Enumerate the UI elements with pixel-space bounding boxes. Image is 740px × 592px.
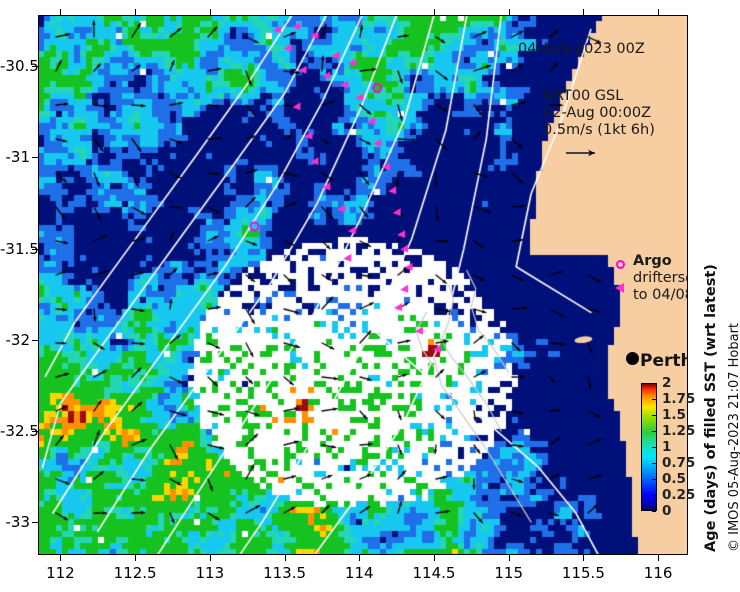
colorbar-tick-label: 1.25 <box>662 423 695 439</box>
x-tick-label: 115.5 <box>562 564 605 582</box>
x-tick <box>434 555 435 561</box>
map-plot-area[interactable]: 04-Aug-2023 00Z 200m 1000m NRT00 GSL 02-… <box>38 15 688 555</box>
colorbar-tick <box>652 383 656 384</box>
drifters-legend-label: drifters@6h <box>633 270 688 286</box>
colorbar-tick <box>652 495 656 496</box>
x-tick-top <box>60 9 61 15</box>
x-tick-top <box>583 9 584 15</box>
colorbar-tick-label: 1.75 <box>662 391 695 407</box>
sst-age-map-figure: 04-Aug-2023 00Z 200m 1000m NRT00 GSL 02-… <box>0 0 740 592</box>
x-tick <box>509 555 510 561</box>
argo-marker-icon <box>616 260 625 269</box>
y-tick-label: -33 <box>0 513 30 531</box>
colorbar-title: Age (days) of filled SST (wrt latest) <box>703 264 719 552</box>
y-tick-label: -31.5 <box>0 240 30 258</box>
drifters-period-label: to 04/08 12Z <box>633 287 688 303</box>
perth-city-dot <box>626 352 639 365</box>
colorbar-tick-label: 1.5 <box>662 407 686 423</box>
y-tick-label: -32 <box>0 331 30 349</box>
x-tick <box>210 555 211 561</box>
colorbar-ticks <box>641 383 657 511</box>
x-tick-top <box>658 9 659 15</box>
x-tick <box>583 555 584 561</box>
colorbar-tick <box>652 399 656 400</box>
x-tick-label: 112.5 <box>114 564 157 582</box>
colorbar-tick <box>652 415 656 416</box>
current-product-info: NRT00 GSL 02-Aug 00:00Z 0.5m/s (1kt 6h) <box>543 88 655 139</box>
current-product-name: NRT00 GSL <box>543 88 623 104</box>
x-tick-top <box>359 9 360 15</box>
colorbar-tick-label: 0 <box>662 503 671 519</box>
colorbar-tick <box>652 479 656 480</box>
current-valid-time: 02-Aug 00:00Z <box>543 105 651 121</box>
x-tick-label: 116 <box>644 564 673 582</box>
colorbar-tick <box>652 511 656 512</box>
colorbar-tick-label: 1 <box>662 439 671 455</box>
x-tick <box>60 555 61 561</box>
colorbar-tick <box>652 447 656 448</box>
colorbar-tick-label: 0.25 <box>662 487 695 503</box>
y-tick-label: -30.5 <box>0 57 30 75</box>
x-tick-label: 115 <box>494 564 523 582</box>
x-tick <box>658 555 659 561</box>
x-tick-label: 113 <box>196 564 225 582</box>
current-vector-arrow-icon <box>565 148 601 158</box>
track-legend: Argo drifters@6h to 04/08 12Z <box>633 253 688 304</box>
x-tick <box>359 555 360 561</box>
x-tick-top <box>210 9 211 15</box>
x-tick-top <box>285 9 286 15</box>
y-tick <box>32 340 38 341</box>
x-tick-label: 112 <box>46 564 75 582</box>
y-tick <box>32 522 38 523</box>
x-tick <box>135 555 136 561</box>
x-tick-top <box>135 9 136 15</box>
x-tick <box>285 555 286 561</box>
perth-city-label: Perth <box>640 351 688 371</box>
colorbar-tick-label: 2 <box>662 375 671 391</box>
x-tick-label: 114.5 <box>412 564 455 582</box>
y-tick-label: -32.5 <box>0 422 30 440</box>
credit-text: © IMOS 05-Aug-2023 21:07 Hobart <box>727 323 740 552</box>
argo-legend-label: Argo <box>633 253 672 269</box>
drifter-marker-icon <box>615 283 624 293</box>
colorbar-tick-label: 0.75 <box>662 455 695 471</box>
x-tick-top <box>434 9 435 15</box>
y-tick <box>32 157 38 158</box>
date-stamp: 04-Aug-2023 00Z <box>518 41 645 58</box>
x-tick-label: 113.5 <box>263 564 306 582</box>
x-tick-top <box>509 9 510 15</box>
x-tick-label: 114 <box>345 564 374 582</box>
colorbar-tick <box>652 463 656 464</box>
current-scale: 0.5m/s (1kt 6h) <box>543 122 655 138</box>
colorbar-tick-label: 0.5 <box>662 471 686 487</box>
y-tick-label: -31 <box>0 148 30 166</box>
colorbar-tick <box>652 431 656 432</box>
